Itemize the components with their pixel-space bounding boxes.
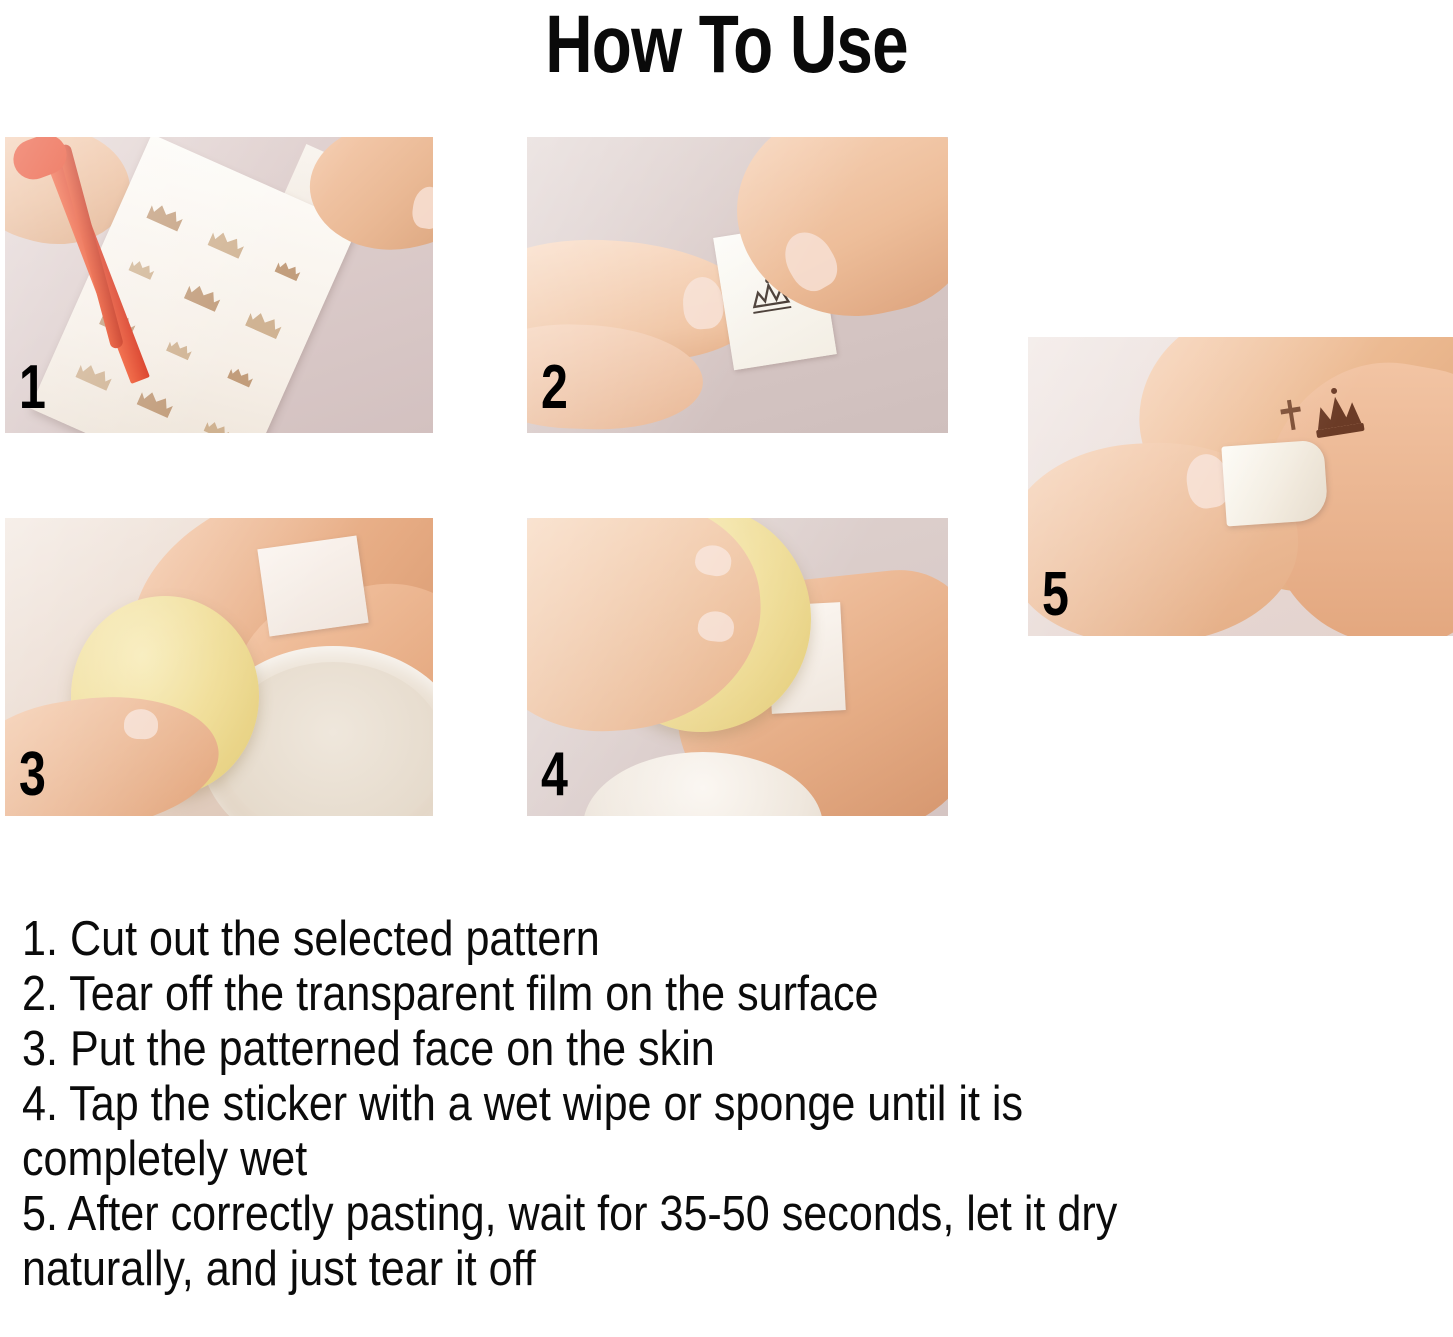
step-photo-2: 2 — [527, 137, 948, 433]
fingernail — [681, 276, 725, 331]
fingernail — [775, 223, 845, 298]
crown-icon — [136, 384, 176, 418]
step-5-illustration — [1028, 337, 1453, 636]
step-photo-1: 1 — [5, 137, 433, 433]
step-4-illustration — [527, 518, 948, 816]
crown-icon — [245, 305, 285, 339]
step-number-2: 2 — [541, 357, 568, 419]
page-title: How To Use — [145, 2, 1307, 88]
tattoo-sticker-on-skin — [257, 535, 368, 636]
instruction-line-3: 3. Put the patterned face on the skin — [22, 1022, 1254, 1077]
crown-icon — [208, 225, 248, 259]
step-1-illustration — [5, 137, 433, 433]
instruction-line-4: 4. Tap the sticker with a wet wipe or sp… — [22, 1077, 1254, 1132]
step-number-3: 3 — [19, 744, 46, 806]
crown-icon — [128, 256, 156, 280]
step-number-1: 1 — [19, 357, 46, 419]
instruction-list: 1. Cut out the selected pattern 2. Tear … — [22, 912, 1422, 1297]
crown-icon — [184, 278, 224, 312]
fingernail — [124, 708, 159, 739]
step-photo-3: 3 — [5, 518, 433, 816]
step-photo-4: 4 — [527, 518, 948, 816]
instruction-line-2: 2. Tear off the transparent film on the … — [22, 967, 1254, 1022]
backing-paper — [1221, 440, 1328, 527]
crown-icon — [227, 363, 255, 387]
instruction-line-4-continued: completely wet — [22, 1132, 1254, 1187]
step-number-4: 4 — [541, 744, 568, 806]
step-3-illustration — [5, 518, 433, 816]
crown-icon — [146, 198, 186, 232]
crown-icon — [75, 357, 115, 391]
instruction-line-5: 5. After correctly pasting, wait for 35-… — [22, 1187, 1254, 1242]
fingernail — [697, 610, 736, 644]
crown-icon — [203, 416, 231, 433]
instruction-line-1: 1. Cut out the selected pattern — [22, 912, 1254, 967]
step-number-5: 5 — [1042, 564, 1069, 626]
fingernail — [410, 185, 433, 231]
crown-icon — [274, 257, 302, 281]
step-2-illustration — [527, 137, 948, 433]
instruction-line-5-continued: naturally, and just tear it off — [22, 1242, 1254, 1297]
step-photo-5: 5 — [1028, 337, 1453, 636]
crown-icon — [166, 336, 194, 360]
fingernail — [693, 543, 734, 579]
